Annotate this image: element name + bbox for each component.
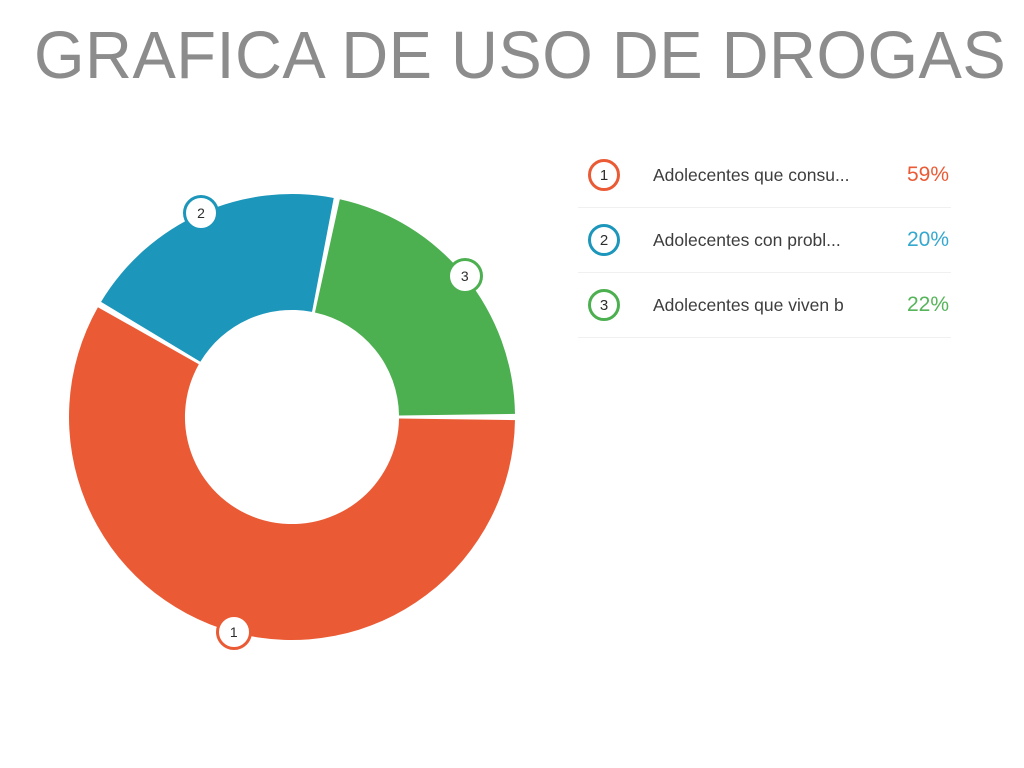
legend-badge-2-icon: 2: [588, 224, 620, 256]
legend-row-2[interactable]: 2 Adolecentes con probl... 20%: [578, 208, 951, 273]
legend-value-1: 59%: [907, 163, 951, 187]
legend-badge-2-label: 2: [600, 233, 608, 248]
legend-row-3[interactable]: 3 Adolecentes que viven b 22%: [578, 273, 951, 338]
legend-badge-1-icon: 1: [588, 159, 620, 191]
legend-row-1[interactable]: 1 Adolecentes que consu... 59%: [578, 143, 951, 208]
donut-slice-green[interactable]: [315, 199, 515, 415]
chart-marker-3-label: 3: [461, 269, 469, 283]
legend-badge-1-label: 1: [600, 168, 608, 183]
legend-label-1: Adolecentes que consu...: [653, 165, 907, 186]
chart-marker-3[interactable]: 3: [447, 258, 483, 294]
legend-badge-3-label: 3: [600, 298, 608, 313]
chart-marker-2-label: 2: [197, 206, 205, 220]
donut-chart-svg: [62, 178, 532, 658]
chart-marker-1-label: 1: [230, 625, 238, 639]
legend-value-3: 22%: [907, 293, 951, 317]
chart-marker-1[interactable]: 1: [216, 614, 252, 650]
chart-legend: 1 Adolecentes que consu... 59% 2 Adolece…: [578, 143, 951, 338]
legend-label-3: Adolecentes que viven b: [653, 295, 907, 316]
legend-badge-3-icon: 3: [588, 289, 620, 321]
legend-label-2: Adolecentes con probl...: [653, 230, 907, 251]
donut-chart: 1 2 3: [62, 178, 532, 658]
legend-value-2: 20%: [907, 228, 951, 252]
page-title: GRAFICA DE USO DE DROGAS: [34, 22, 1006, 89]
